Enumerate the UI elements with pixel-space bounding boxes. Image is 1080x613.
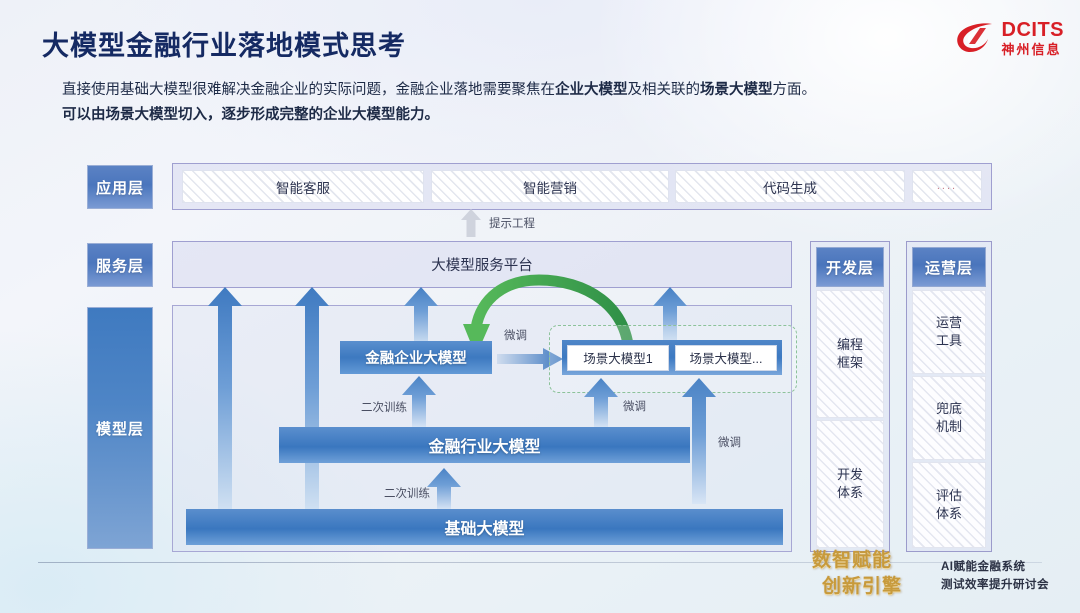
arrow-up-to-service-1-icon xyxy=(208,287,242,509)
footer-slogan-line2: 创新引擎 xyxy=(822,574,932,600)
label-finetune-scene-up: 微调 xyxy=(623,398,646,414)
dev-cell-2-text: 开发 体系 xyxy=(837,466,863,502)
subtitle-emphasis-enterprise: 企业大模型 xyxy=(555,82,628,98)
footer-conference-line2: 测试效率提升研讨会 xyxy=(941,579,1049,591)
footer-slogan-line1: 数智赋能 xyxy=(812,550,892,571)
scene-model-card-1[interactable]: 场景大模型1 xyxy=(567,345,669,371)
arrow-finetune-scene-up-icon xyxy=(584,378,618,428)
scene-model-card-2[interactable]: 场景大模型... xyxy=(675,345,777,371)
dev-cell-1-line2: 框架 xyxy=(837,355,863,370)
layer-badge-application: 应用层 xyxy=(87,165,153,209)
app-card-more-label: .... xyxy=(937,183,957,191)
dev-cell-1-line1: 编程 xyxy=(837,337,863,352)
dev-cell-1-text: 编程 框架 xyxy=(837,336,863,372)
arrow-prompt-engineering-icon xyxy=(461,209,481,237)
dev-cell-dev-system[interactable]: 开发 体系 xyxy=(816,420,884,548)
subtitle-part-2: 及相关联的 xyxy=(628,82,701,98)
app-card-intelligent-service[interactable]: 智能客服 xyxy=(182,170,424,203)
dev-cell-2-line2: 体系 xyxy=(837,485,863,500)
ops-cell-2-text: 兜底 机制 xyxy=(936,400,962,436)
ops-cell-2-line1: 兜底 xyxy=(936,401,962,416)
ops-cell-3-line2: 体系 xyxy=(936,506,962,521)
label-secondary-training-industry: 二次训练 xyxy=(384,485,430,501)
arrow-up-to-service-2-icon xyxy=(295,287,329,509)
ops-cell-1-line2: 工具 xyxy=(936,333,962,348)
ops-cell-3-text: 评估 体系 xyxy=(936,487,962,523)
label-secondary-training-enterprise: 二次训练 xyxy=(361,399,407,415)
app-card-intelligent-marketing[interactable]: 智能营销 xyxy=(431,170,669,203)
box-industry-model[interactable]: 金融行业大模型 xyxy=(279,427,690,463)
app-card-code-generation[interactable]: 代码生成 xyxy=(675,170,905,203)
label-prompt-engineering: 提示工程 xyxy=(489,215,535,231)
footer-slogan: 数智赋能 创新引擎 xyxy=(812,548,932,606)
ops-cell-2-line2: 机制 xyxy=(936,419,962,434)
brand-logo: DCITS 神州信息 xyxy=(955,20,1065,56)
arrow-secondary-training-industry-icon xyxy=(427,468,461,510)
ops-layer-column: 运营层 运营 工具 兜底 机制 评估 体系 xyxy=(906,241,992,552)
dcits-swoosh-icon xyxy=(955,20,995,56)
label-finetune-to-scene: 微调 xyxy=(504,327,527,343)
subtitle-part-3: 方面。 xyxy=(773,82,817,98)
dev-layer-title: 开发层 xyxy=(816,247,884,287)
label-finetune-right: 微调 xyxy=(718,434,741,450)
ops-cell-operation-tools[interactable]: 运营 工具 xyxy=(912,290,986,374)
page-subtitle: 直接使用基础大模型很难解决金融企业的实际问题，金融企业落地需要聚焦在企业大模型及… xyxy=(62,78,892,128)
app-card-more[interactable]: .... xyxy=(912,170,982,203)
service-platform-label: 大模型服务平台 xyxy=(431,254,533,275)
layer-badge-service: 服务层 xyxy=(87,243,153,287)
arrow-secondary-training-enterprise-icon xyxy=(402,376,436,428)
dev-cell-programming-framework[interactable]: 编程 框架 xyxy=(816,290,884,418)
dev-cell-2-line1: 开发 xyxy=(837,467,863,482)
arrow-up-to-service-3-icon xyxy=(404,287,438,347)
footer-conference-line1: AI赋能金融系统 xyxy=(941,561,1026,573)
slide-canvas: 大模型金融行业落地模式思考 直接使用基础大模型很难解决金融企业的实际问题，金融企… xyxy=(0,0,1080,613)
ops-cell-fallback-mechanism[interactable]: 兜底 机制 xyxy=(912,376,986,460)
ops-cell-evaluation-system[interactable]: 评估 体系 xyxy=(912,462,986,548)
subtitle-line-2: 可以由场景大模型切入，逐步形成完整的企业大模型能力。 xyxy=(62,107,439,123)
ops-cell-1-line1: 运营 xyxy=(936,315,962,330)
box-enterprise-model[interactable]: 金融企业大模型 xyxy=(340,341,492,374)
box-base-model[interactable]: 基础大模型 xyxy=(186,509,783,545)
subtitle-part-1: 直接使用基础大模型很难解决金融企业的实际问题，金融企业落地需要聚焦在 xyxy=(62,82,555,98)
scene-model-group: 场景大模型1 场景大模型... xyxy=(562,340,782,375)
layer-badge-model: 模型层 xyxy=(87,307,153,549)
ops-layer-title: 运营层 xyxy=(912,247,986,287)
ops-cell-3-line1: 评估 xyxy=(936,488,962,503)
footer-conference: AI赋能金融系统 测试效率提升研讨会 xyxy=(941,558,1049,594)
logo-text-cn: 神州信息 xyxy=(1002,43,1065,56)
subtitle-emphasis-scene: 场景大模型 xyxy=(700,82,773,98)
dev-layer-column: 开发层 编程 框架 开发 体系 xyxy=(810,241,890,552)
ops-cell-1-text: 运营 工具 xyxy=(936,314,962,350)
logo-text-en: DCITS xyxy=(1002,20,1065,40)
page-title: 大模型金融行业落地模式思考 xyxy=(42,24,406,63)
